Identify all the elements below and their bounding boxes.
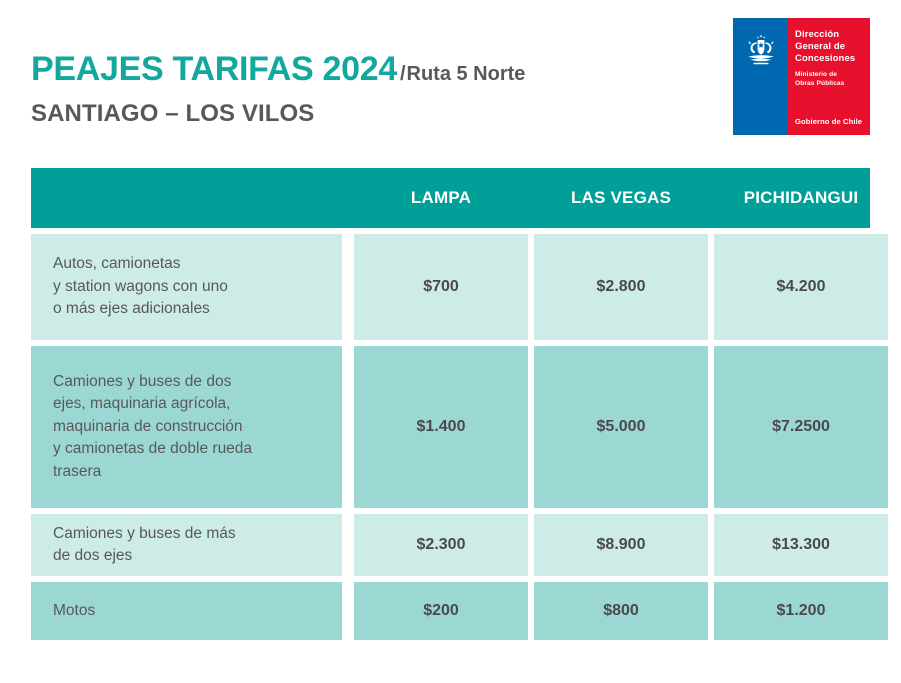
description-line: trasera — [53, 461, 252, 483]
description-line: y station wagons con uno — [53, 276, 228, 298]
price-cell-pichidangui: $4.200 — [714, 234, 888, 340]
description-line: Camiones y buses de dos — [53, 371, 252, 393]
table-row: Camiones y buses de más de dos ejes $2.3… — [31, 514, 870, 576]
tariff-table: LAMPA LAS VEGAS PICHIDANGUI Autos, camio… — [31, 168, 870, 640]
page-title: PEAJES TARIFAS 2024/Ruta 5 Norte SANTIAG… — [31, 52, 525, 128]
price-cell-las-vegas: $2.800 — [534, 234, 708, 340]
description-line: ejes, maquinaria agrícola, — [53, 393, 252, 415]
logo-government-label: Gobierno de Chile — [795, 117, 862, 126]
row-description: Camiones y buses de más de dos ejes — [31, 514, 342, 576]
price-cell-lampa: $1.400 — [354, 346, 528, 508]
description-line: de dos ejes — [53, 545, 236, 567]
row-description: Camiones y buses de dos ejes, maquinaria… — [31, 346, 342, 508]
title-separator: / — [400, 63, 406, 85]
row-description: Autos, camionetas y station wagons con u… — [31, 234, 342, 340]
price-cell-lampa: $2.300 — [354, 514, 528, 576]
table-header-row: LAMPA LAS VEGAS PICHIDANGUI — [31, 168, 870, 228]
logo-ministry-line-1: Ministerio de — [795, 71, 864, 80]
table-row: Motos $200 $800 $1.200 — [31, 582, 870, 640]
table-row: Autos, camionetas y station wagons con u… — [31, 234, 870, 340]
title-route: Ruta 5 Norte — [407, 63, 526, 85]
description-line: maquinaria de construcción — [53, 416, 252, 438]
price-cell-lampa: $700 — [354, 234, 528, 340]
column-header-las-vegas: LAS VEGAS — [534, 188, 708, 208]
description-line: o más ejes adicionales — [53, 298, 228, 320]
page-subtitle: SANTIAGO – LOS VILOS — [31, 100, 525, 128]
logo-ministry-line-2: Obras Públicas — [795, 80, 864, 89]
government-logo: Dirección General de Concesiones Ministe… — [733, 18, 870, 135]
price-cell-las-vegas: $8.900 — [534, 514, 708, 576]
logo-organization: Dirección General de Concesiones — [795, 29, 864, 65]
column-header-lampa: LAMPA — [354, 188, 528, 208]
column-header-pichidangui: PICHIDANGUI — [714, 188, 888, 208]
row-description: Motos — [31, 582, 342, 640]
price-cell-las-vegas: $800 — [534, 582, 708, 640]
logo-ministry: Ministerio de Obras Públicas — [795, 71, 864, 88]
price-cell-las-vegas: $5.000 — [534, 346, 708, 508]
table-row: Camiones y buses de dos ejes, maquinaria… — [31, 346, 870, 508]
price-cell-pichidangui: $7.2500 — [714, 346, 888, 508]
description-line: Motos — [53, 600, 95, 622]
logo-org-line-1: Dirección — [795, 29, 864, 41]
price-cell-pichidangui: $13.300 — [714, 514, 888, 576]
chile-coat-of-arms-icon — [742, 34, 780, 68]
price-cell-pichidangui: $1.200 — [714, 582, 888, 640]
logo-blue-panel — [733, 18, 788, 135]
price-cell-lampa: $200 — [354, 582, 528, 640]
logo-org-line-3: Concesiones — [795, 53, 864, 65]
description-line: Autos, camionetas — [53, 253, 228, 275]
title-main: PEAJES TARIFAS 2024 — [31, 50, 397, 88]
logo-org-line-2: General de — [795, 41, 864, 53]
title-line-primary: PEAJES TARIFAS 2024/Ruta 5 Norte — [31, 52, 525, 86]
logo-red-panel: Dirección General de Concesiones Ministe… — [788, 18, 870, 135]
page-header: PEAJES TARIFAS 2024/Ruta 5 Norte SANTIAG… — [31, 10, 870, 158]
description-line: y camionetas de doble rueda — [53, 438, 252, 460]
description-line: Camiones y buses de más — [53, 523, 236, 545]
